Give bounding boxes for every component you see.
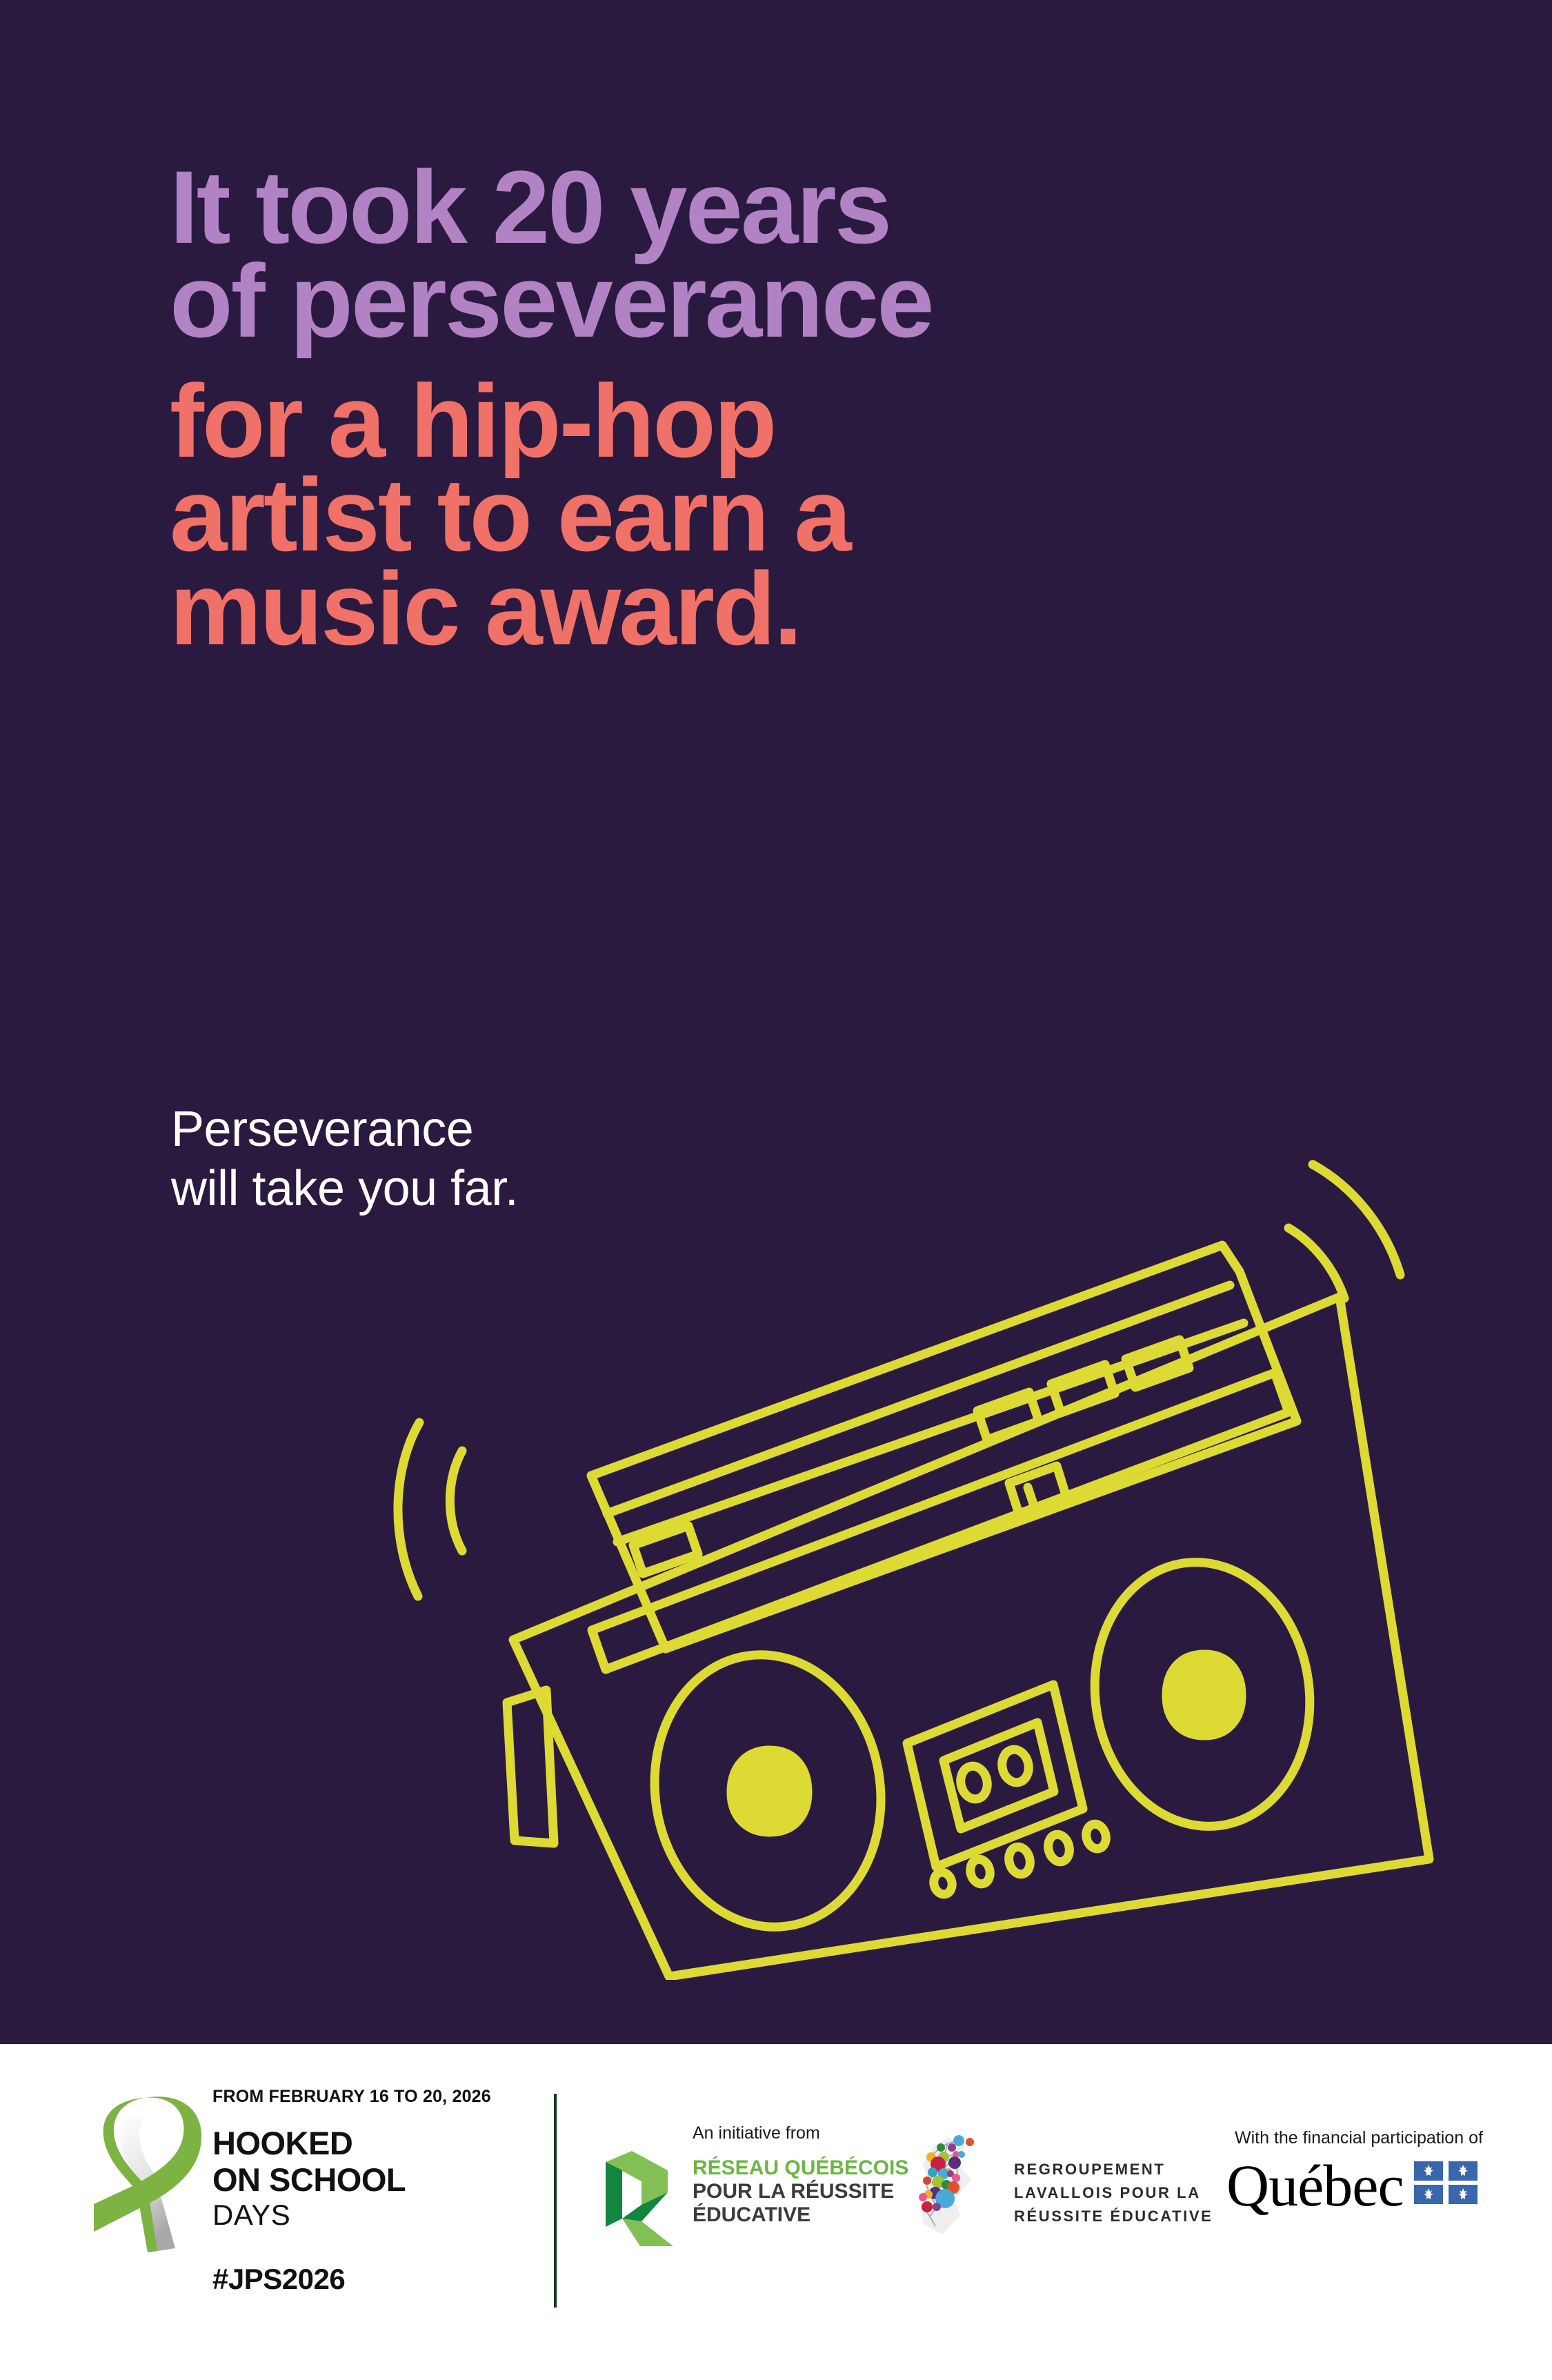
boombox-reel-right: [999, 1747, 1031, 1785]
rlre-name-line-3: RÉUSSITE ÉDUCATIVE: [1014, 2205, 1213, 2228]
rlre-name-line-2: LAVALLOIS POUR LA: [1014, 2181, 1213, 2205]
headline-line-1: It took 20 years: [170, 160, 1384, 254]
ribbon-icon: [94, 2094, 204, 2263]
campaign-name-line-2: ON SCHOOL: [212, 2161, 406, 2198]
hooked-on-school-days-logo: FROM FEBRUARY 16 TO 20, 2026 HOOKED ON S…: [94, 2087, 535, 2342]
rqre-name-line-3: ÉDUCATIVE: [693, 2203, 908, 2227]
boombox-cassette-deck: [907, 1685, 1083, 1867]
boombox-knob-2: [968, 1857, 993, 1886]
rqre-kicker: An initiative from: [693, 2123, 820, 2143]
rlre-name-line-1: REGROUPEMENT: [1014, 2158, 1213, 2181]
quebec-flag-icon: [1414, 2161, 1478, 2204]
sound-wave-right-inner: [1289, 1228, 1344, 1298]
rqre-name-line-2: POUR LA RÉUSSITE: [693, 2180, 908, 2203]
quebec-kicker: With the financial participation of: [1235, 2128, 1483, 2148]
boombox-illustration: [386, 1097, 1490, 1980]
footer-divider: [554, 2094, 557, 2308]
page-title: It took 20 years of perseverance for a h…: [170, 160, 1384, 655]
boombox-knob-1: [932, 1870, 955, 1896]
rqre-logo: An initiative from RÉSEAU QUÉBÉCOIS POUR…: [601, 2123, 877, 2254]
boombox-side-grip: [507, 1690, 554, 1843]
sound-wave-left-outer: [398, 1422, 419, 1596]
headline-line-4: artist to earn a: [170, 468, 1384, 562]
campaign-dates: FROM FEBRUARY 16 TO 20, 2026: [212, 2087, 491, 2107]
headline-line-2: of perseverance: [170, 254, 1384, 348]
rqre-shape-left: [606, 2162, 622, 2227]
headline-line-5: music award.: [170, 562, 1384, 655]
rlre-logo: REGROUPEMENT LAVALLOIS POUR LA RÉUSSITE …: [917, 2130, 1193, 2248]
boombox-reel-left: [957, 1764, 990, 1802]
campaign-hashtag: #JPS2026: [212, 2263, 345, 2296]
footer: FROM FEBRUARY 16 TO 20, 2026 HOOKED ON S…: [0, 2044, 1552, 2380]
boombox-knob-5: [1084, 1822, 1108, 1851]
campaign-name-line-1: HOOKED: [212, 2125, 406, 2161]
boombox-speaker-left-center: [739, 1758, 800, 1825]
sound-wave-left-inner: [450, 1451, 462, 1551]
rqre-mark-icon: [601, 2150, 676, 2248]
quebec-logo: With the financial participation of Québ…: [1207, 2128, 1476, 2239]
poster: It took 20 years of perseverance for a h…: [0, 0, 1552, 2380]
quebec-wordmark: Québec: [1226, 2156, 1404, 2215]
boombox-knob-3: [1006, 1845, 1033, 1876]
headline-line-3: for a hip-hop: [170, 374, 1384, 468]
campaign-name: HOOKED ON SCHOOL DAYS: [212, 2125, 406, 2232]
rlre-name: REGROUPEMENT LAVALLOIS POUR LA RÉUSSITE …: [1014, 2158, 1213, 2228]
rqre-shape-leg: [622, 2219, 673, 2246]
rlre-network-map-icon: [917, 2134, 1006, 2239]
campaign-name-line-3: DAYS: [212, 2198, 406, 2232]
hero-panel: It took 20 years of perseverance for a h…: [0, 0, 1552, 2044]
rqre-name: RÉSEAU QUÉBÉCOIS POUR LA RÉUSSITE ÉDUCAT…: [693, 2156, 908, 2227]
boombox-angled-bar: [592, 1373, 1289, 1669]
boombox-knob-4: [1046, 1832, 1073, 1864]
boombox-speaker-right-center: [1174, 1663, 1234, 1727]
rqre-name-line-1: RÉSEAU QUÉBÉCOIS: [693, 2156, 908, 2180]
